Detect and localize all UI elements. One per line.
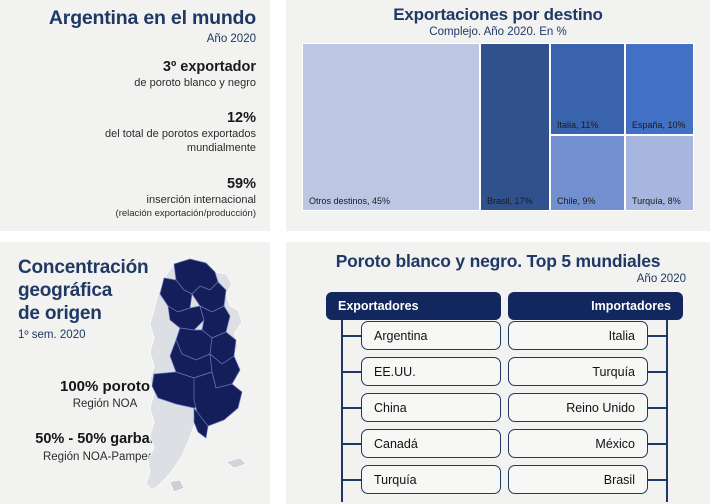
page-title-world: Argentina en el mundo [14, 6, 256, 30]
treemap-tile-chile[interactable]: Chile, 9% [550, 135, 625, 211]
connector-importadores-4 [646, 443, 668, 445]
treemap-tile-italia[interactable]: Italia, 11% [550, 43, 625, 135]
list-item-importador-3[interactable]: Reino Unido [508, 393, 648, 422]
list-item-importador-2[interactable]: Turquía [508, 357, 648, 386]
connector-importadores-2 [646, 371, 668, 373]
column-importadores: Importadores Italia Turquía Reino Unido … [508, 292, 683, 320]
connector-importadores-5 [646, 479, 668, 481]
panel-top5-header: Poroto blanco y negro. Top 5 mundiales A… [286, 242, 710, 287]
column-header-importadores[interactable]: Importadores [508, 292, 683, 320]
argentina-map [114, 250, 264, 500]
list-item-exportador-3[interactable]: China [361, 393, 501, 422]
list-item-importador-4[interactable]: México [508, 429, 648, 458]
treemap-label-otros-destinos: Otros destinos, 45% [309, 196, 390, 206]
panel-argentina-en-el-mundo: Argentina en el mundo Año 2020 3º export… [0, 0, 270, 231]
treemap-tile-otros-destinos[interactable]: Otros destinos, 45% [302, 43, 480, 211]
exportadores-spine [341, 320, 343, 502]
stat-label-insercion: inserción internacional [0, 193, 256, 208]
connector-exportadores-1 [341, 335, 363, 337]
stat-label-share-line2: mundialmente [0, 141, 256, 156]
chart-title: Exportaciones por destino [286, 4, 710, 25]
subtitle-world: Año 2020 [14, 31, 256, 47]
connector-exportadores-4 [341, 443, 363, 445]
treemap-label-espana: España, 10% [632, 120, 686, 130]
treemap-tile-turquia[interactable]: Turquía, 8% [625, 135, 694, 211]
list-item-exportador-5[interactable]: Turquía [361, 465, 501, 494]
panel-top5-mundiales: Poroto blanco y negro. Top 5 mundiales A… [286, 242, 710, 504]
treemap-label-brasil: Brasil, 17% [487, 196, 533, 206]
stat-block-share: 12% del total de porotos exportados mund… [0, 110, 270, 156]
connector-exportadores-2 [341, 371, 363, 373]
list-item-importador-5[interactable]: Brasil [508, 465, 648, 494]
stat-note-insercion: (relación exportación/producción) [0, 207, 256, 220]
treemap-label-turquia: Turquía, 8% [632, 196, 681, 206]
list-item-exportador-2[interactable]: EE.UU. [361, 357, 501, 386]
subtitle-top5: Año 2020 [286, 272, 710, 287]
importadores-spine [666, 320, 668, 502]
argentina-map-svg [114, 250, 264, 500]
list-item-importador-1[interactable]: Italia [508, 321, 648, 350]
stat-block-exportador: 3º exportador de poroto blanco y negro [0, 59, 270, 91]
list-item-exportador-4[interactable]: Canadá [361, 429, 501, 458]
stat-value-rank: 3º exportador [0, 59, 256, 76]
connector-exportadores-5 [341, 479, 363, 481]
treemap-tile-espana[interactable]: España, 10% [625, 43, 694, 135]
chart-subtitle: Complejo. Año 2020. En % [286, 25, 710, 40]
panel-exportaciones-por-destino: Exportaciones por destino Complejo. Año … [286, 0, 710, 231]
panel-concentracion-geografica: Concentración geográfica de origen 1º se… [0, 242, 270, 504]
connector-importadores-1 [646, 335, 668, 337]
stat-value-share: 12% [0, 110, 256, 127]
connector-exportadores-3 [341, 407, 363, 409]
panel-treemap-header: Exportaciones por destino Complejo. Año … [286, 0, 710, 40]
stat-label-rank: de poroto blanco y negro [0, 76, 256, 91]
infographic-board: Argentina en el mundo Año 2020 3º export… [0, 0, 710, 504]
stat-label-share-line1: del total de porotos exportados [0, 127, 256, 142]
treemap-tile-brasil[interactable]: Brasil, 17% [480, 43, 550, 211]
treemap-label-italia: Italia, 11% [557, 120, 598, 130]
connector-importadores-3 [646, 407, 668, 409]
column-exportadores: Exportadores Argentina EE.UU. China Cana… [326, 292, 501, 320]
stat-value-insercion: 59% [0, 176, 256, 193]
page-title-top5: Poroto blanco y negro. Top 5 mundiales [286, 250, 710, 272]
stat-block-insercion: 59% inserción internacional (relación ex… [0, 176, 270, 221]
panel-world-header: Argentina en el mundo Año 2020 [0, 0, 270, 47]
column-header-exportadores[interactable]: Exportadores [326, 292, 501, 320]
treemap-label-chile: Chile, 9% [557, 196, 596, 206]
list-item-exportador-1[interactable]: Argentina [361, 321, 501, 350]
treemap-chart: Otros destinos, 45% Brasil, 17% Italia, … [302, 43, 694, 211]
top5-columns: Exportadores Argentina EE.UU. China Cana… [286, 292, 710, 502]
